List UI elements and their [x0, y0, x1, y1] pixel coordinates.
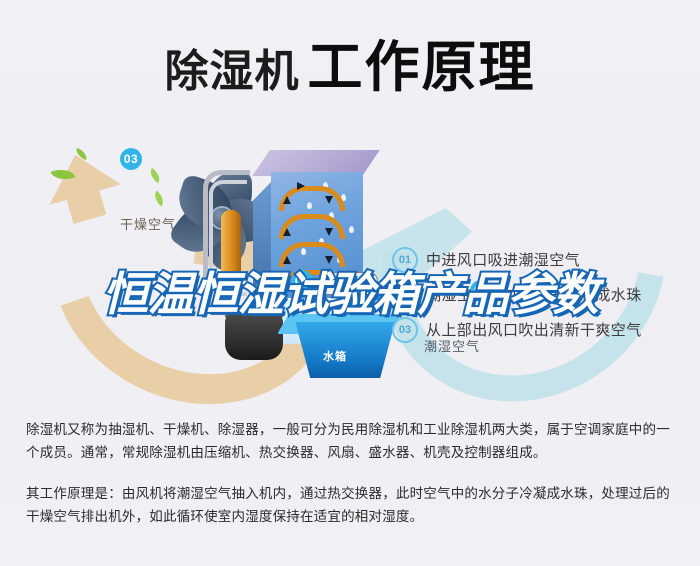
body-paragraph-2: 其工作原理是：由风机将潮湿空气抽入机内，通过热交换器，此时空气中的水分子冷凝成水…	[26, 482, 674, 528]
water-tank-label: 水箱	[323, 348, 347, 364]
page-title: 除湿机工作原理	[0, 22, 700, 102]
poster-root: 除湿机工作原理	[0, 0, 700, 566]
title-part-1: 除湿机	[164, 47, 299, 96]
diagram-badge-03: 03	[120, 148, 142, 170]
dry-air-label: 干燥空气	[120, 214, 176, 233]
title-part-2: 工作原理	[307, 36, 535, 98]
watermark-overlay: 恒温恒湿试验箱产品参数	[0, 258, 700, 324]
body-paragraph-1: 除湿机又称为抽湿机、干燥机、除湿器，一般可分为民用除湿机和工业除湿机两大类，属于…	[26, 418, 674, 464]
